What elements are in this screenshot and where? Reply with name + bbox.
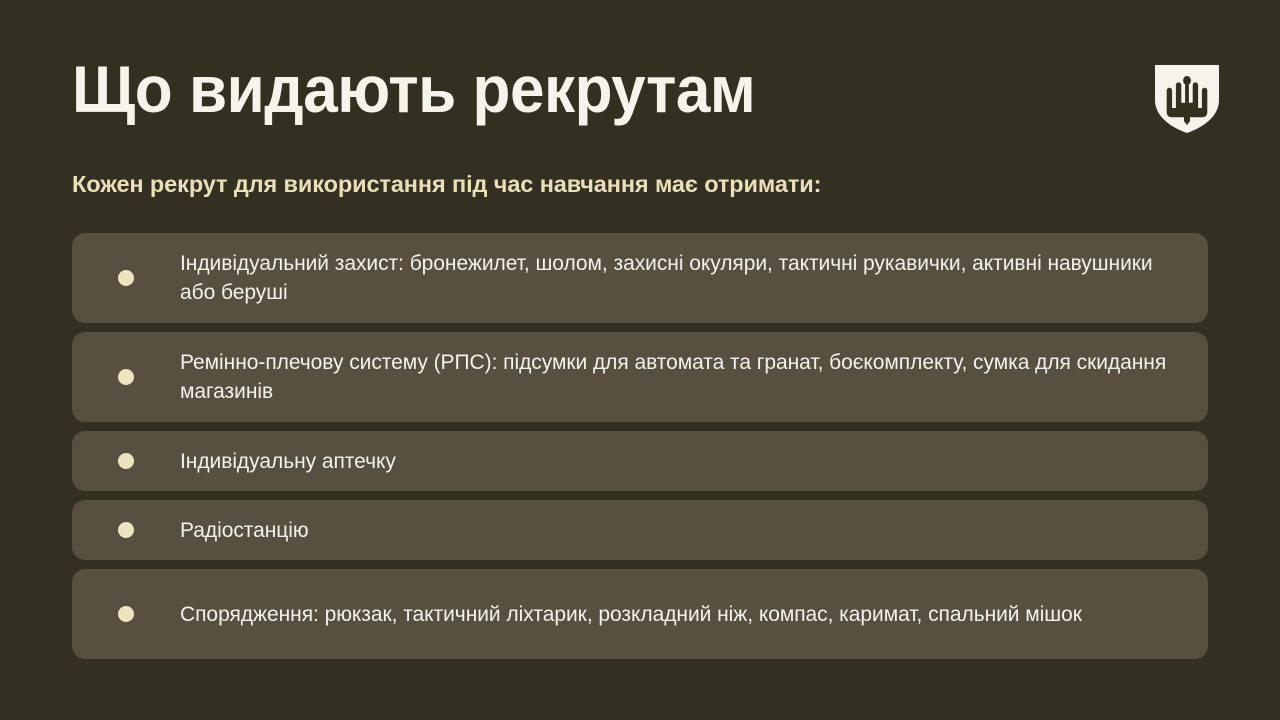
bullet-dot-icon	[72, 522, 180, 538]
bullet-dot-icon	[72, 270, 180, 286]
bullet-dot-icon	[72, 369, 180, 385]
list-item-label: Індивідуальну аптечку	[180, 447, 1182, 476]
list-item: Індивідуальний захист: бронежилет, шолом…	[72, 233, 1208, 323]
list-item: Індивідуальну аптечку	[72, 431, 1208, 491]
slide-root: Що видають рекрутам Кожен рекрут для вик…	[0, 0, 1280, 720]
list-item-label: Індивідуальний захист: бронежилет, шолом…	[180, 249, 1182, 307]
bullet-dot-icon	[72, 606, 180, 622]
list-item: Спорядження: рюкзак, тактичний ліхтарик,…	[72, 569, 1208, 659]
slide-subtitle: Кожен рекрут для використання під час на…	[72, 169, 821, 199]
page-title: Що видають рекрутам	[72, 48, 755, 130]
equipment-list: Індивідуальний захист: бронежилет, шолом…	[72, 233, 1208, 659]
ukraine-armed-forces-trident-shield-icon	[1154, 64, 1220, 134]
list-item-label: Радіостанцію	[180, 516, 1182, 545]
list-item: Радіостанцію	[72, 500, 1208, 560]
list-item: Ремінно-плечову систему (РПС): підсумки …	[72, 332, 1208, 422]
bullet-dot-icon	[72, 453, 180, 469]
list-item-label: Ремінно-плечову систему (РПС): підсумки …	[180, 348, 1182, 406]
list-item-label: Спорядження: рюкзак, тактичний ліхтарик,…	[180, 600, 1182, 629]
slide-header: Що видають рекрутам	[72, 48, 1220, 144]
